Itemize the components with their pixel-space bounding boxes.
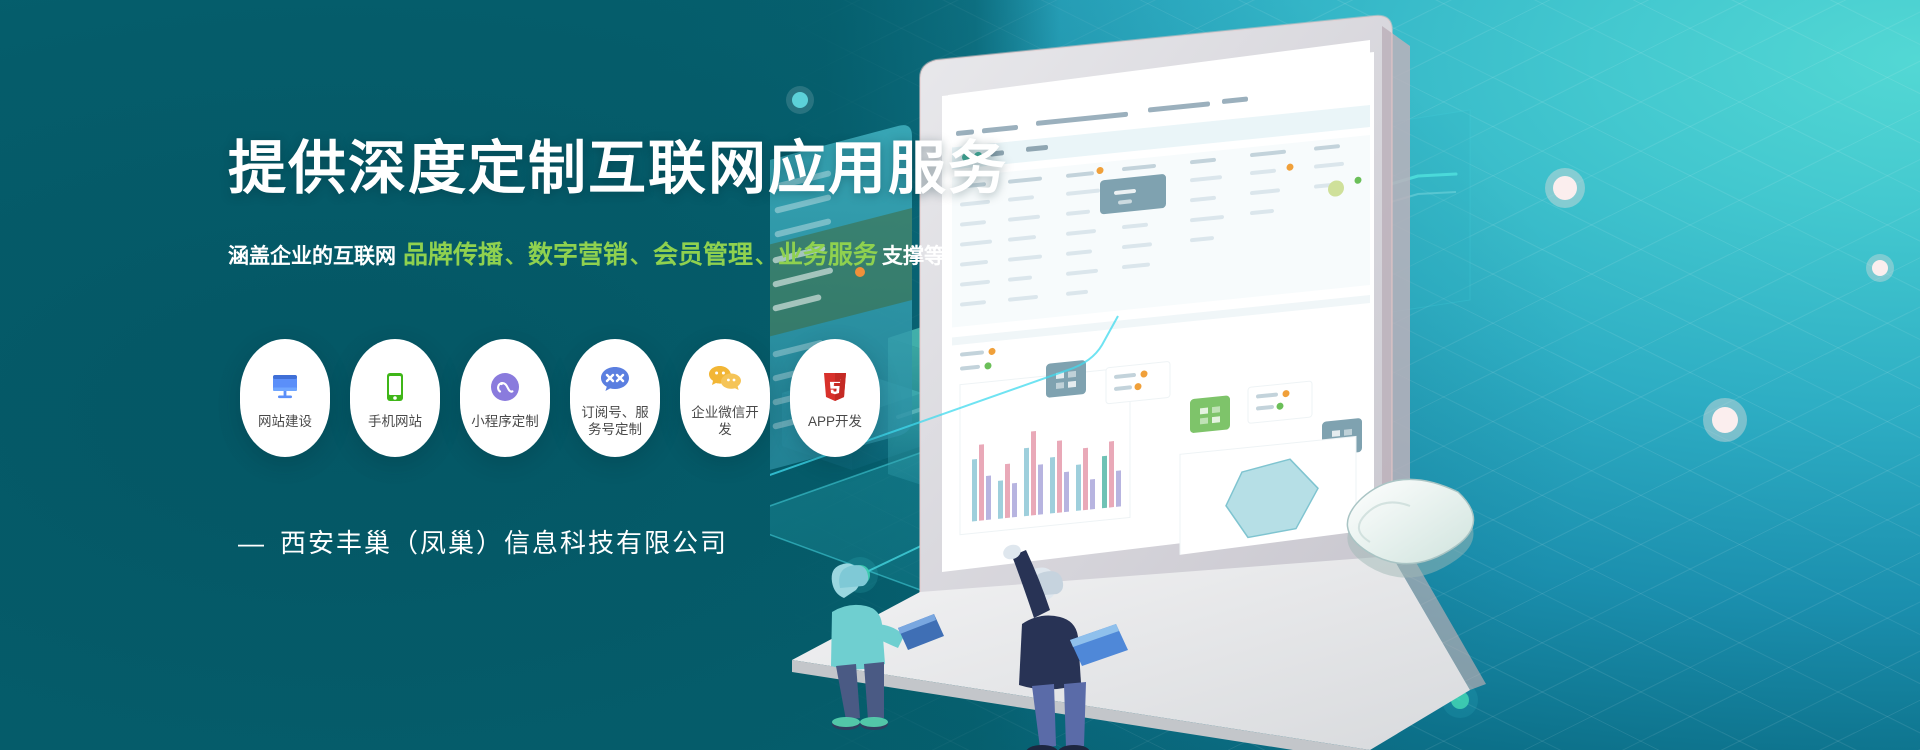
service-badge-mobile-site[interactable]: 手机网站 [350, 339, 440, 457]
company-name: 西安丰巢（凤巢）信息科技有限公司 [280, 528, 728, 558]
wechat-official-icon [599, 358, 631, 398]
wechat-bubbles-icon [708, 358, 742, 398]
service-badge-official-account[interactable]: 订阅号、服务号定制 [570, 339, 660, 457]
service-badge-website[interactable]: 网站建设 [240, 339, 330, 457]
page-title: 提供深度定制互联网应用服务 [228, 140, 1008, 198]
attribution-dash: — [238, 528, 280, 558]
hero-banner: 提供深度定制互联网应用服务 涵盖企业的互联网 品牌传播、数字营销、会员管理、业务… [0, 0, 1920, 750]
service-badge-enterprise-wechat[interactable]: 企业微信开发 [680, 339, 770, 457]
banner-content: 提供深度定制互联网应用服务 涵盖企业的互联网 品牌传播、数字营销、会员管理、业务… [0, 0, 1020, 750]
keyword-member-management: 会员管理 [653, 241, 753, 269]
keyword-digital-marketing: 数字营销 [528, 241, 628, 269]
service-badge-list: 网站建设 手机网站 [240, 339, 880, 457]
subtitle-separator-1: 、 [503, 245, 528, 268]
mobile-phone-icon [384, 367, 406, 407]
desktop-monitor-icon [270, 367, 300, 407]
service-badge-label: 手机网站 [359, 413, 431, 430]
keyword-business-service: 业务服务 [778, 241, 878, 269]
banner-subtitle: 涵盖企业的互联网 品牌传播、数字营销、会员管理、业务服务支撑等 [228, 243, 945, 268]
computer-mouse [1347, 479, 1473, 577]
company-attribution: —西安丰巢（凤巢）信息科技有限公司 [238, 523, 728, 560]
service-badge-label: 小程序定制 [469, 413, 541, 430]
subtitle-separator-2: 、 [628, 245, 653, 268]
service-badge-label: APP开发 [799, 413, 871, 430]
subtitle-suffix: 支撑等 [878, 245, 945, 268]
html5-shield-icon [822, 367, 848, 407]
subtitle-separator-3: 、 [753, 245, 778, 268]
service-badge-label: 企业微信开发 [689, 404, 761, 438]
service-badge-app-development[interactable]: APP开发 [790, 339, 880, 457]
service-badge-label: 订阅号、服务号定制 [579, 404, 651, 438]
mini-program-icon [490, 367, 520, 407]
keyword-brand: 品牌传播 [403, 241, 503, 269]
service-badge-label: 网站建设 [249, 413, 321, 430]
service-badge-mini-program[interactable]: 小程序定制 [460, 339, 550, 457]
subtitle-prefix: 涵盖企业的互联网 [228, 245, 396, 268]
